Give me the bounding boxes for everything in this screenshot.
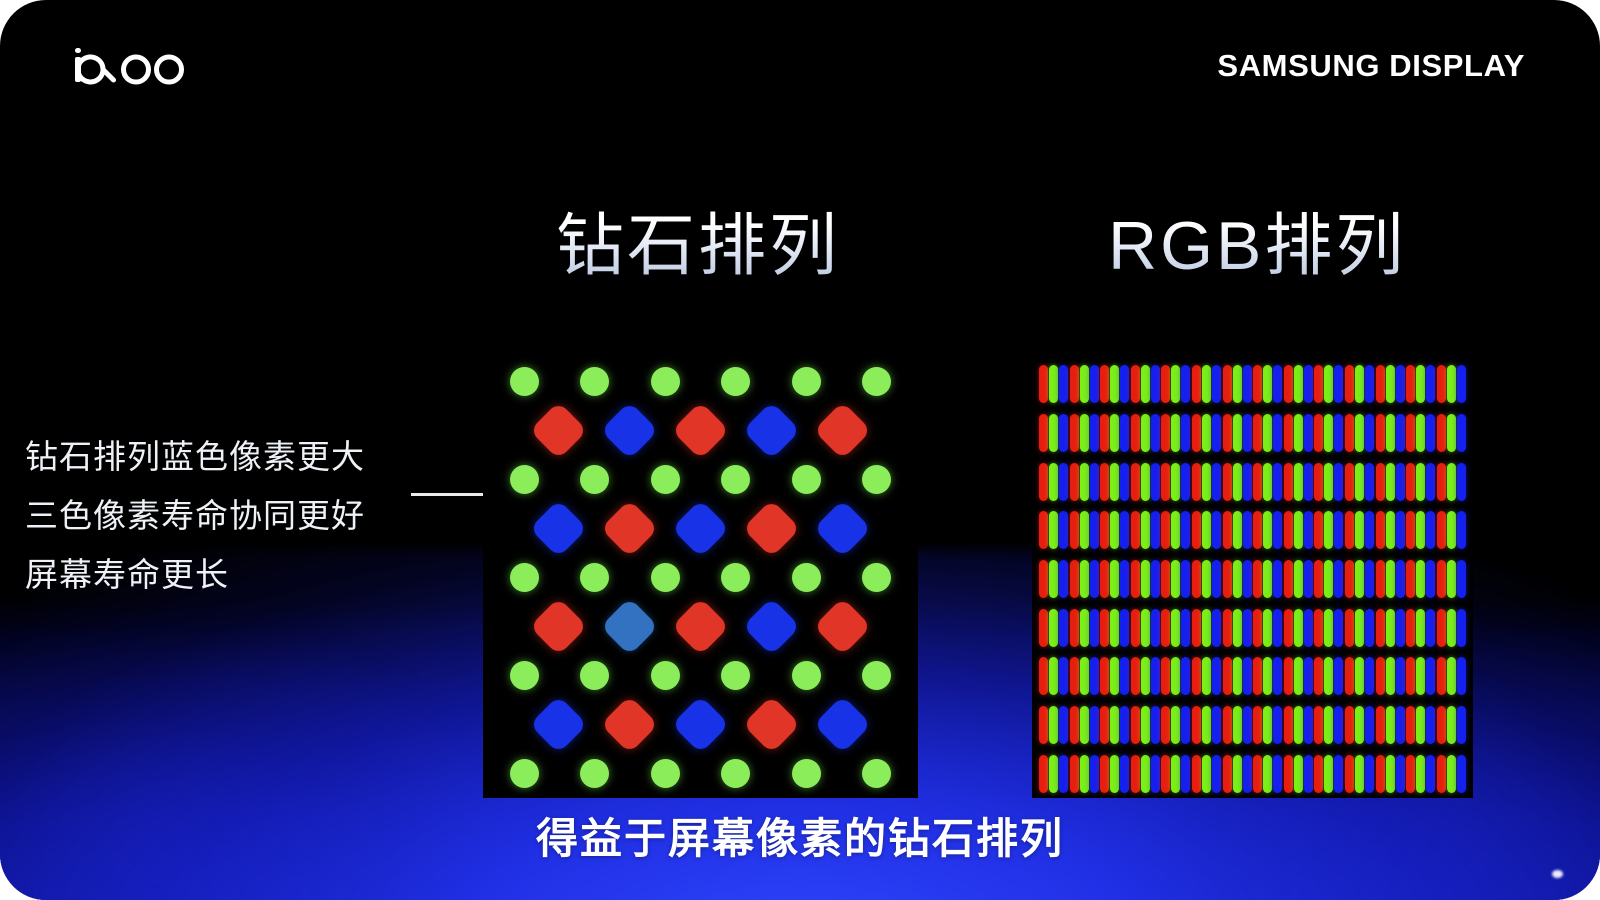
pixel-stripe-r: [1100, 706, 1109, 744]
pixel-stripe-b: [1243, 609, 1252, 647]
rgb-triad: [1253, 365, 1282, 403]
pixel-stripe-b: [1151, 560, 1160, 598]
pixel-red-diamond: [530, 598, 588, 656]
pixel-stripe-r: [1039, 463, 1048, 501]
pixel-stripe-b: [1151, 463, 1160, 501]
rgb-triad: [1039, 657, 1068, 695]
pixel-stripe-g: [1141, 511, 1150, 549]
pixel-stripe-g: [1386, 706, 1395, 744]
pixel-stripe-r: [1284, 414, 1293, 452]
pixel-blue-diamond: [530, 696, 588, 754]
pixel-stripe-r: [1253, 755, 1262, 793]
pixel-stripe-r: [1192, 365, 1201, 403]
pixel-stripe-r: [1314, 414, 1323, 452]
pixel-stripe-g: [1110, 463, 1119, 501]
pixel-red-diamond: [530, 402, 588, 460]
rgb-triad: [1345, 706, 1374, 744]
pixel-stripe-b: [1273, 365, 1282, 403]
pixel-green-circle: [792, 759, 821, 788]
pixel-stripe-b: [1151, 657, 1160, 695]
pixel-stripe-r: [1284, 365, 1293, 403]
pixel-stripe-g: [1416, 657, 1425, 695]
pixel-stripe-r: [1345, 560, 1354, 598]
diamond-rb-row: [483, 700, 918, 749]
rgb-triad: [1161, 365, 1190, 403]
rgb-triad: [1192, 511, 1221, 549]
rgb-triad: [1039, 463, 1068, 501]
pixel-red-diamond: [672, 402, 730, 460]
pixel-stripe-b: [1365, 755, 1374, 793]
pixel-stripe-g: [1355, 755, 1364, 793]
pixel-stripe-g: [1386, 365, 1395, 403]
rgb-triad: [1345, 463, 1374, 501]
rgb-triad: [1192, 657, 1221, 695]
pixel-stripe-r: [1161, 560, 1170, 598]
pixel-stripe-b: [1151, 706, 1160, 744]
pixel-stripe-b: [1304, 657, 1313, 695]
rgb-triad: [1223, 365, 1252, 403]
pixel-stripe-b: [1120, 560, 1129, 598]
pixel-stripe-b: [1120, 365, 1129, 403]
pixel-green-circle: [721, 563, 750, 592]
pixel-stripe-r: [1070, 755, 1079, 793]
pixel-stripe-g: [1324, 657, 1333, 695]
pixel-stripe-r: [1192, 560, 1201, 598]
pixel-stripe-g: [1141, 365, 1150, 403]
lens-flare-dot: [1552, 870, 1563, 878]
diamond-green-row: [483, 455, 918, 504]
pixel-stripe-r: [1039, 414, 1048, 452]
pixel-stripe-g: [1080, 560, 1089, 598]
rgb-triad: [1376, 755, 1405, 793]
pixel-blue-diamond: [601, 402, 659, 460]
pixel-stripe-g: [1049, 414, 1058, 452]
pixel-stripe-b: [1426, 755, 1435, 793]
rgb-triad: [1253, 560, 1282, 598]
pixel-stripe-g: [1171, 414, 1180, 452]
rgb-triad: [1223, 609, 1252, 647]
rgb-stripe-row: [1032, 652, 1473, 701]
rgb-triad: [1253, 755, 1282, 793]
pixel-stripe-r: [1253, 463, 1262, 501]
pixel-stripe-r: [1161, 755, 1170, 793]
pixel-stripe-b: [1181, 365, 1190, 403]
pixel-stripe-b: [1396, 560, 1405, 598]
rgb-stripe-row: [1032, 457, 1473, 506]
pixel-stripe-g: [1263, 657, 1272, 695]
pixel-stripe-b: [1334, 365, 1343, 403]
pixel-stripe-b: [1426, 463, 1435, 501]
rgb-triad: [1100, 755, 1129, 793]
rgb-triad: [1376, 365, 1405, 403]
pixel-stripe-r: [1345, 414, 1354, 452]
pixel-stripe-b: [1426, 657, 1435, 695]
rgb-triad: [1253, 463, 1282, 501]
pixel-stripe-b: [1457, 463, 1466, 501]
pixel-stripe-g: [1263, 365, 1272, 403]
pixel-stripe-g: [1233, 609, 1242, 647]
pixel-green-circle: [862, 563, 891, 592]
rgb-triad: [1223, 511, 1252, 549]
pixel-stripe-r: [1253, 511, 1262, 549]
pixel-stripe-g: [1263, 511, 1272, 549]
pixel-stripe-b: [1304, 755, 1313, 793]
pixel-green-circle: [792, 465, 821, 494]
rgb-triad: [1131, 560, 1160, 598]
pixel-blue-diamond: [672, 696, 730, 754]
pixel-stripe-g: [1110, 414, 1119, 452]
pixel-stripe-b: [1243, 560, 1252, 598]
pixel-stripe-g: [1171, 755, 1180, 793]
diamond-green-row: [483, 749, 918, 798]
pixel-stripe-g: [1447, 511, 1456, 549]
pixel-stripe-b: [1243, 414, 1252, 452]
pixel-stripe-b: [1120, 463, 1129, 501]
rgb-triad: [1223, 755, 1252, 793]
rgb-triad: [1161, 706, 1190, 744]
pixel-stripe-r: [1100, 657, 1109, 695]
pixel-stripe-g: [1355, 365, 1364, 403]
pixel-stripe-g: [1294, 657, 1303, 695]
pixel-stripe-r: [1070, 511, 1079, 549]
rgb-triad: [1192, 414, 1221, 452]
pixel-stripe-g: [1233, 706, 1242, 744]
pixel-stripe-r: [1223, 706, 1232, 744]
rgb-triad: [1284, 511, 1313, 549]
pixel-stripe-b: [1334, 463, 1343, 501]
pixel-stripe-g: [1447, 560, 1456, 598]
pixel-blue-diamond: [814, 500, 872, 558]
diamond-rb-row: [483, 602, 918, 651]
pixel-stripe-r: [1437, 511, 1446, 549]
pixel-stripe-b: [1120, 414, 1129, 452]
pixel-stripe-b: [1243, 706, 1252, 744]
pixel-stripe-b: [1457, 414, 1466, 452]
pixel-stripe-r: [1070, 609, 1079, 647]
pixel-stripe-b: [1212, 609, 1221, 647]
pixel-stripe-g: [1110, 657, 1119, 695]
pixel-stripe-r: [1314, 657, 1323, 695]
pixel-stripe-g: [1233, 414, 1242, 452]
rgb-triad: [1039, 414, 1068, 452]
pixel-stripe-r: [1192, 657, 1201, 695]
pixel-red-diamond: [743, 500, 801, 558]
pixel-red-diamond: [672, 598, 730, 656]
pixel-stripe-r: [1223, 755, 1232, 793]
pixel-stripe-r: [1039, 365, 1048, 403]
pixel-green-circle: [862, 759, 891, 788]
rgb-triad: [1192, 609, 1221, 647]
pixel-stripe-b: [1273, 414, 1282, 452]
pixel-stripe-r: [1437, 463, 1446, 501]
rgb-triad: [1253, 706, 1282, 744]
rgb-triad: [1100, 365, 1129, 403]
pixel-stripe-b: [1212, 463, 1221, 501]
description-text-block: 钻石排列蓝色像素更大 三色像素寿命协同更好 屏幕寿命更长: [25, 427, 365, 604]
pixel-stripe-b: [1090, 463, 1099, 501]
diamond-green-row: [483, 553, 918, 602]
pixel-stripe-g: [1049, 511, 1058, 549]
pixel-dim-diamond: [601, 598, 659, 656]
pixel-stripe-g: [1263, 755, 1272, 793]
pixel-stripe-g: [1171, 463, 1180, 501]
pixel-stripe-r: [1070, 560, 1079, 598]
pixel-stripe-r: [1253, 560, 1262, 598]
pixel-stripe-g: [1324, 755, 1333, 793]
rgb-triad: [1039, 560, 1068, 598]
pixel-stripe-g: [1080, 755, 1089, 793]
pixel-stripe-b: [1181, 560, 1190, 598]
pixel-blue-diamond: [672, 500, 730, 558]
pixel-stripe-g: [1202, 657, 1211, 695]
pixel-stripe-g: [1324, 365, 1333, 403]
rgb-triad: [1376, 560, 1405, 598]
pixel-stripe-g: [1202, 609, 1211, 647]
rgb-triad: [1437, 414, 1466, 452]
pixel-stripe-g: [1110, 560, 1119, 598]
rgb-triad: [1406, 365, 1435, 403]
pixel-stripe-b: [1365, 657, 1374, 695]
pixel-stripe-r: [1100, 755, 1109, 793]
rgb-triad: [1437, 657, 1466, 695]
pixel-stripe-g: [1386, 463, 1395, 501]
pixel-stripe-b: [1120, 609, 1129, 647]
pixel-stripe-b: [1273, 657, 1282, 695]
pixel-stripe-g: [1416, 706, 1425, 744]
rgb-triad: [1376, 511, 1405, 549]
pixel-stripe-r: [1131, 609, 1140, 647]
rgb-triad: [1100, 706, 1129, 744]
pixel-stripe-r: [1376, 657, 1385, 695]
pixel-green-circle: [580, 759, 609, 788]
pixel-green-circle: [510, 367, 539, 396]
rgb-triad: [1437, 365, 1466, 403]
pixel-stripe-b: [1212, 755, 1221, 793]
pixel-stripe-r: [1223, 560, 1232, 598]
pixel-stripe-b: [1457, 609, 1466, 647]
pixel-stripe-r: [1345, 755, 1354, 793]
rgb-triad: [1376, 414, 1405, 452]
rgb-triad: [1314, 365, 1343, 403]
pixel-stripe-r: [1131, 755, 1140, 793]
rgb-triad: [1376, 706, 1405, 744]
pixel-stripe-r: [1253, 414, 1262, 452]
pixel-stripe-g: [1202, 414, 1211, 452]
pixel-stripe-g: [1110, 365, 1119, 403]
rgb-triad: [1284, 755, 1313, 793]
rgb-triad: [1314, 657, 1343, 695]
pixel-stripe-r: [1437, 755, 1446, 793]
rgb-triad: [1192, 755, 1221, 793]
pixel-stripe-g: [1263, 560, 1272, 598]
pixel-stripe-b: [1090, 706, 1099, 744]
pixel-green-circle: [510, 563, 539, 592]
pixel-stripe-r: [1100, 609, 1109, 647]
pixel-stripe-r: [1131, 657, 1140, 695]
pixel-stripe-r: [1161, 414, 1170, 452]
samsung-display-logo: SAMSUNG DISPLAY: [1217, 48, 1525, 84]
pixel-stripe-g: [1294, 463, 1303, 501]
pixel-stripe-r: [1039, 657, 1048, 695]
pixel-stripe-r: [1406, 365, 1415, 403]
rgb-triad: [1131, 463, 1160, 501]
rgb-triad: [1161, 755, 1190, 793]
rgb-triad: [1039, 511, 1068, 549]
pixel-stripe-g: [1171, 560, 1180, 598]
rgb-triad: [1070, 706, 1099, 744]
rgb-triad: [1314, 755, 1343, 793]
pixel-stripe-b: [1181, 706, 1190, 744]
pixel-stripe-r: [1284, 706, 1293, 744]
pixel-stripe-g: [1386, 755, 1395, 793]
pixel-stripe-b: [1304, 609, 1313, 647]
pixel-stripe-g: [1080, 706, 1089, 744]
rgb-triad: [1192, 463, 1221, 501]
rgb-triad: [1100, 511, 1129, 549]
rgb-pixel-panel: [1032, 360, 1473, 798]
pixel-stripe-g: [1324, 609, 1333, 647]
pixel-blue-diamond: [530, 500, 588, 558]
rgb-triad: [1100, 414, 1129, 452]
rgb-triad: [1376, 657, 1405, 695]
pixel-stripe-r: [1284, 657, 1293, 695]
pixel-stripe-b: [1396, 609, 1405, 647]
rgb-triad: [1406, 511, 1435, 549]
pixel-stripe-g: [1110, 609, 1119, 647]
rgb-triad: [1314, 414, 1343, 452]
pixel-green-circle: [651, 563, 680, 592]
rgb-triad: [1345, 414, 1374, 452]
rgb-triad: [1437, 609, 1466, 647]
pixel-stripe-g: [1049, 365, 1058, 403]
pixel-stripe-b: [1212, 706, 1221, 744]
pixel-stripe-g: [1324, 706, 1333, 744]
heading-rgb-arrangement: RGB排列: [1108, 190, 1406, 289]
rgb-stripe-row: [1032, 603, 1473, 652]
description-line-3: 屏幕寿命更长: [25, 545, 365, 604]
pixel-green-circle: [792, 367, 821, 396]
rgb-triad: [1161, 560, 1190, 598]
rgb-triad: [1161, 609, 1190, 647]
rgb-triad: [1406, 755, 1435, 793]
pixel-green-circle: [651, 367, 680, 396]
rgb-triad: [1070, 657, 1099, 695]
pixel-stripe-r: [1406, 414, 1415, 452]
rgb-triad: [1070, 609, 1099, 647]
pixel-stripe-r: [1345, 511, 1354, 549]
pixel-stripe-g: [1202, 560, 1211, 598]
pixel-green-circle: [651, 759, 680, 788]
rgb-stripe-row: [1032, 749, 1473, 798]
pixel-stripe-b: [1059, 414, 1068, 452]
rgb-stripe-row: [1032, 555, 1473, 604]
rgb-triad: [1070, 755, 1099, 793]
rgb-triad: [1284, 609, 1313, 647]
rgb-triad: [1376, 463, 1405, 501]
pixel-green-circle: [721, 661, 750, 690]
pixel-stripe-b: [1243, 755, 1252, 793]
pixel-blue-diamond: [814, 696, 872, 754]
pixel-stripe-g: [1324, 511, 1333, 549]
rgb-triad: [1131, 365, 1160, 403]
pixel-green-circle: [862, 367, 891, 396]
pixel-stripe-b: [1090, 609, 1099, 647]
pixel-stripe-b: [1426, 609, 1435, 647]
pixel-stripe-r: [1376, 365, 1385, 403]
pixel-stripe-g: [1416, 414, 1425, 452]
rgb-triad: [1192, 560, 1221, 598]
rgb-triad: [1131, 755, 1160, 793]
pixel-stripe-r: [1314, 365, 1323, 403]
pixel-stripe-b: [1059, 657, 1068, 695]
rgb-triad: [1253, 511, 1282, 549]
pixel-blue-diamond: [743, 598, 801, 656]
pixel-stripe-g: [1386, 414, 1395, 452]
pixel-stripe-g: [1049, 706, 1058, 744]
pixel-stripe-r: [1406, 560, 1415, 598]
pixel-stripe-b: [1059, 365, 1068, 403]
pixel-green-circle: [510, 759, 539, 788]
pixel-stripe-g: [1049, 755, 1058, 793]
pixel-stripe-g: [1171, 609, 1180, 647]
pixel-stripe-r: [1070, 414, 1079, 452]
rgb-triad: [1161, 657, 1190, 695]
pixel-stripe-r: [1223, 365, 1232, 403]
pixel-stripe-r: [1039, 755, 1048, 793]
pixel-stripe-r: [1253, 365, 1262, 403]
pixel-stripe-r: [1284, 463, 1293, 501]
pixel-stripe-b: [1426, 706, 1435, 744]
pixel-green-circle: [580, 563, 609, 592]
pixel-stripe-r: [1437, 657, 1446, 695]
pixel-stripe-r: [1376, 414, 1385, 452]
pixel-stripe-g: [1355, 657, 1364, 695]
pixel-stripe-b: [1396, 706, 1405, 744]
pixel-stripe-g: [1233, 463, 1242, 501]
pixel-stripe-b: [1457, 706, 1466, 744]
rgb-triad: [1161, 414, 1190, 452]
pixel-stripe-r: [1039, 560, 1048, 598]
pixel-stripe-r: [1192, 609, 1201, 647]
pixel-stripe-g: [1294, 755, 1303, 793]
pixel-stripe-g: [1049, 463, 1058, 501]
pixel-green-circle: [862, 661, 891, 690]
pixel-stripe-r: [1345, 463, 1354, 501]
pixel-stripe-b: [1059, 706, 1068, 744]
rgb-triad: [1131, 706, 1160, 744]
pixel-green-circle: [580, 367, 609, 396]
pixel-stripe-r: [1314, 560, 1323, 598]
pixel-stripe-b: [1273, 560, 1282, 598]
pixel-stripe-g: [1110, 706, 1119, 744]
pixel-stripe-b: [1212, 414, 1221, 452]
pixel-stripe-r: [1192, 755, 1201, 793]
pixel-stripe-b: [1457, 365, 1466, 403]
rgb-triad: [1100, 609, 1129, 647]
pixel-stripe-b: [1365, 609, 1374, 647]
rgb-triad: [1253, 609, 1282, 647]
rgb-triad: [1345, 511, 1374, 549]
pixel-stripe-r: [1192, 706, 1201, 744]
pixel-stripe-b: [1273, 755, 1282, 793]
pixel-red-diamond: [814, 402, 872, 460]
pixel-stripe-b: [1457, 511, 1466, 549]
pixel-stripe-g: [1294, 706, 1303, 744]
pixel-stripe-r: [1161, 463, 1170, 501]
pixel-green-circle: [721, 759, 750, 788]
pixel-stripe-g: [1233, 560, 1242, 598]
pixel-stripe-g: [1263, 414, 1272, 452]
